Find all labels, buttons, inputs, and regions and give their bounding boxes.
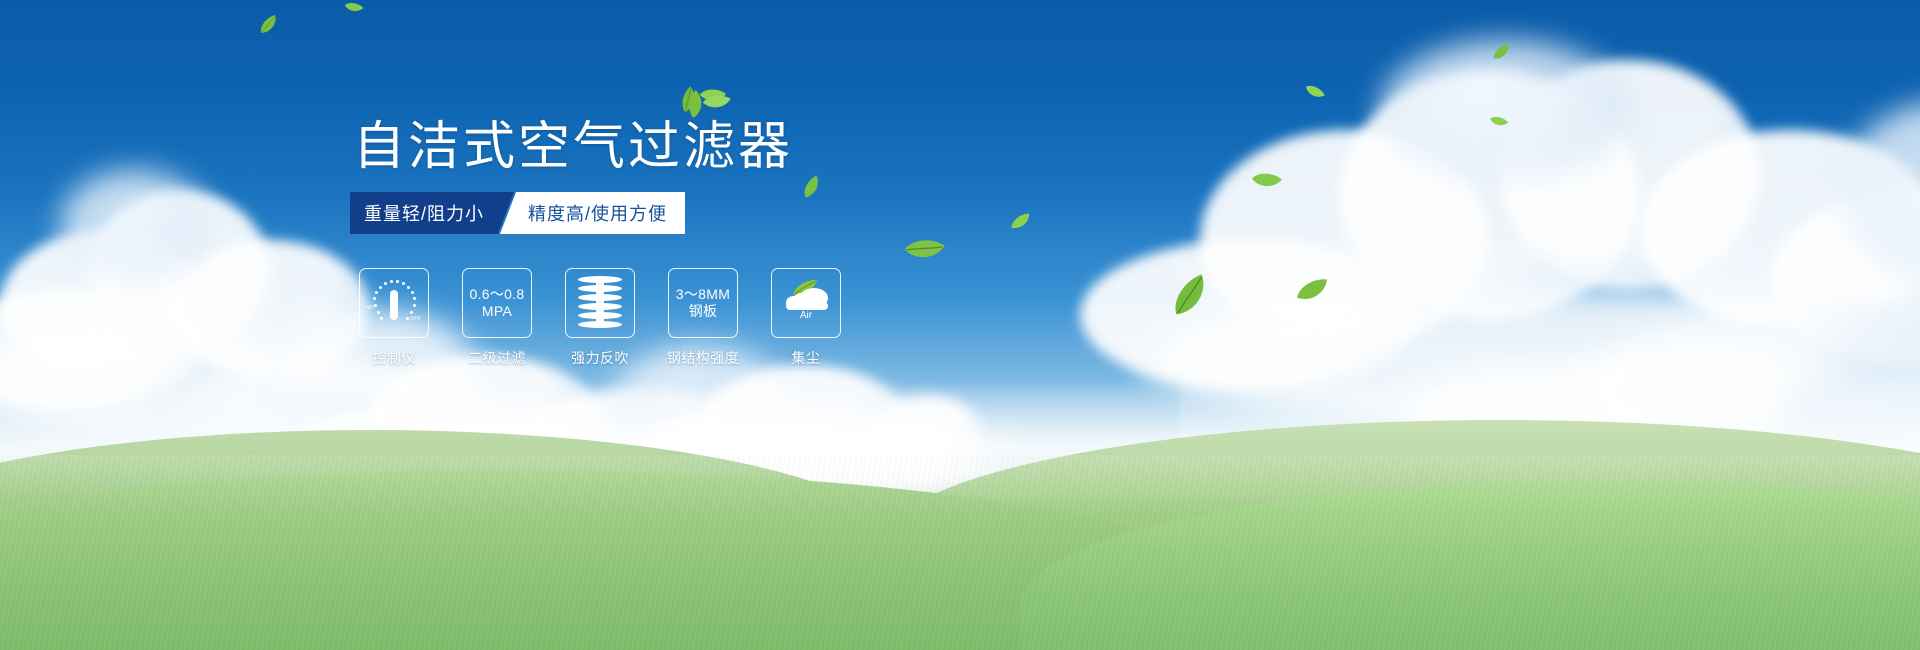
feature-icon-box: 0.6〜0.8 MPA: [462, 268, 532, 338]
feature-caption: 集尘: [792, 348, 821, 368]
feature-icon-box: Air: [771, 268, 841, 338]
tag-secondary: 精度高/使用方便: [500, 192, 685, 234]
leaf-icon: [256, 14, 282, 36]
leaf-icon: [343, 0, 364, 17]
feature-item-pressure[interactable]: 0.6〜0.8 MPA 二级过滤: [461, 268, 533, 368]
feature-icon-box: NO OFF: [359, 268, 429, 338]
leaf-icon: [701, 90, 732, 113]
grass-texture: [0, 455, 1920, 650]
page-title: 自洁式空气过滤器: [353, 118, 793, 176]
hero-banner: 自洁式空气过滤器 重量轻/阻力小 精度高/使用方便: [0, 0, 1920, 650]
feature-icon-box: [565, 268, 635, 338]
tag-primary: 重量轻/阻力小: [350, 192, 514, 234]
feature-item-blowback[interactable]: 强力反吹: [564, 268, 636, 368]
feature-list: NO OFF 控制仪 0.6〜0.8 MPA 二级过滤: [358, 268, 842, 368]
gauge-label-off: OFF: [410, 316, 421, 322]
filter-cartridge-icon: [578, 276, 622, 330]
leaf-icon: [1009, 212, 1034, 230]
feature-caption: 控制仪: [372, 348, 416, 368]
feature-caption: 钢结构强度: [667, 348, 740, 368]
cloud-air-icon: Air: [782, 283, 830, 323]
gauge-dial-icon: NO OFF: [368, 278, 420, 328]
pressure-value: 0.6〜0.8: [469, 286, 524, 303]
leaf-icon: [902, 232, 947, 266]
leaf-icon: [798, 174, 825, 200]
steel-thickness: 3〜8MM: [676, 286, 730, 303]
feature-caption: 强力反吹: [571, 348, 629, 368]
feature-item-dust[interactable]: Air 集尘: [770, 268, 842, 368]
feature-item-controller[interactable]: NO OFF 控制仪: [358, 268, 430, 368]
feature-icon-box: 3〜8MM 钢板: [668, 268, 738, 338]
air-label: Air: [782, 310, 830, 321]
feature-caption: 二级过滤: [468, 348, 526, 368]
tag-bar: 重量轻/阻力小 精度高/使用方便: [350, 192, 685, 234]
steel-material: 钢板: [689, 303, 718, 320]
gauge-label-no: NO: [366, 305, 374, 311]
leaf-icon: [1304, 81, 1326, 104]
feature-item-steel[interactable]: 3〜8MM 钢板 钢结构强度: [667, 268, 739, 368]
pressure-unit: MPA: [482, 303, 512, 320]
